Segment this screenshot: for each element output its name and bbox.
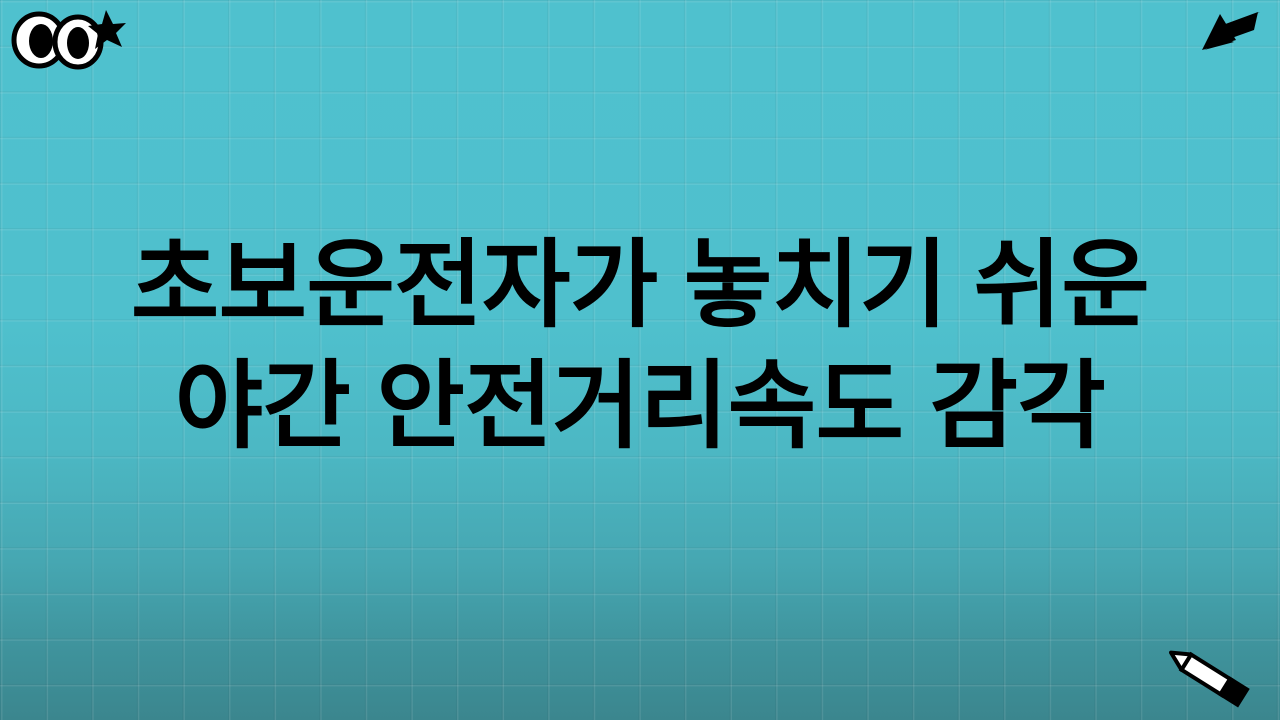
right-pupil-icon <box>67 27 89 59</box>
left-pupil-icon <box>29 24 53 58</box>
headline-text: 초보운전자가 놓치기 쉬운 야간 안전거리속도 감각 <box>0 226 1280 468</box>
slide-canvas: 초보운전자가 놓치기 쉬운 야간 안전거리속도 감각 <box>0 0 1280 720</box>
arrow-icon <box>1200 6 1262 56</box>
pencil-icon <box>1162 644 1258 710</box>
arrow-svg <box>1200 6 1262 56</box>
eyes-star-logo <box>6 4 126 74</box>
arrow-tail <box>1220 12 1258 40</box>
logo-svg <box>6 4 126 74</box>
pencil-svg <box>1162 644 1258 710</box>
